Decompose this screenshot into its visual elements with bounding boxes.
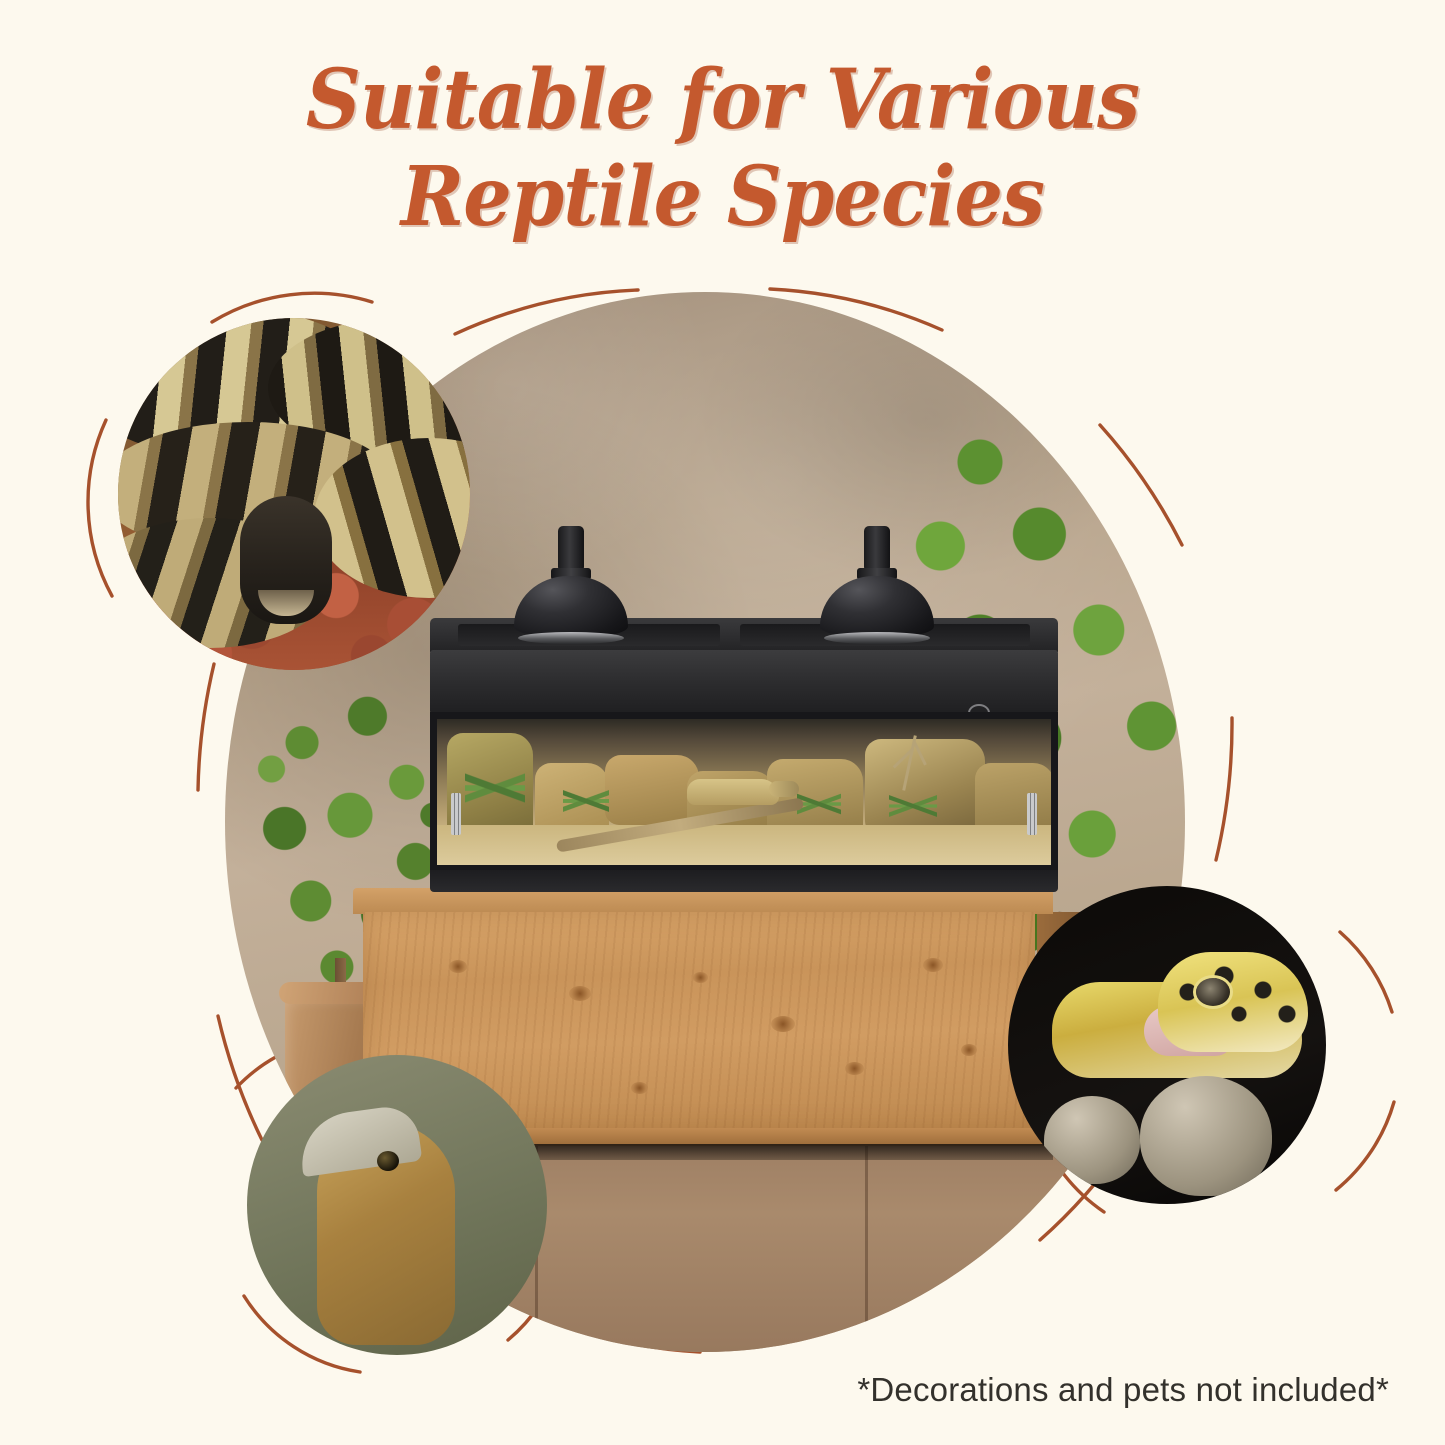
terrarium-glass-enclosure bbox=[430, 712, 1058, 872]
glass-door-handle-left[interactable] bbox=[451, 793, 461, 835]
lamp-rim bbox=[518, 632, 624, 644]
glass-door-handle-right[interactable] bbox=[1027, 793, 1037, 835]
poster-canvas: Suitable for Various Reptile Species bbox=[0, 0, 1445, 1445]
bearded-dragon-eye bbox=[377, 1151, 399, 1171]
bearded-dragon-in-tank bbox=[687, 779, 779, 805]
sand-substrate bbox=[437, 825, 1051, 865]
headline-line-1: Suitable for Various bbox=[306, 52, 1139, 148]
terrarium-hood: RepWild bbox=[430, 650, 1058, 714]
lamp-neck bbox=[558, 526, 584, 572]
species-chip-bearded-dragon bbox=[247, 1055, 547, 1355]
terrarium-unit: RepWild bbox=[430, 618, 1058, 898]
heat-lamp-right bbox=[820, 526, 934, 646]
leopard-gecko-head bbox=[1158, 952, 1308, 1052]
decor-stone-large bbox=[1140, 1076, 1272, 1196]
page-title: Suitable for Various Reptile Species bbox=[51, 52, 1395, 246]
headline-line-2: Reptile Species bbox=[51, 149, 1395, 246]
disclaimer-note: *Decorations and pets not included* bbox=[857, 1371, 1389, 1409]
species-chip-leopard-gecko bbox=[1008, 886, 1326, 1204]
lamp-neck bbox=[864, 526, 890, 572]
decor-stone-small bbox=[1044, 1096, 1140, 1184]
lamp-rim bbox=[824, 632, 930, 644]
terrarium-interior bbox=[437, 719, 1051, 865]
species-chip-ball-python bbox=[118, 318, 470, 670]
leopard-gecko-eye bbox=[1196, 978, 1230, 1006]
terrarium-base-rail bbox=[430, 870, 1058, 892]
ball-python-head bbox=[240, 496, 332, 624]
lamp-dome bbox=[820, 576, 934, 638]
lamp-dome bbox=[514, 576, 628, 638]
heat-lamp-left bbox=[514, 526, 628, 646]
